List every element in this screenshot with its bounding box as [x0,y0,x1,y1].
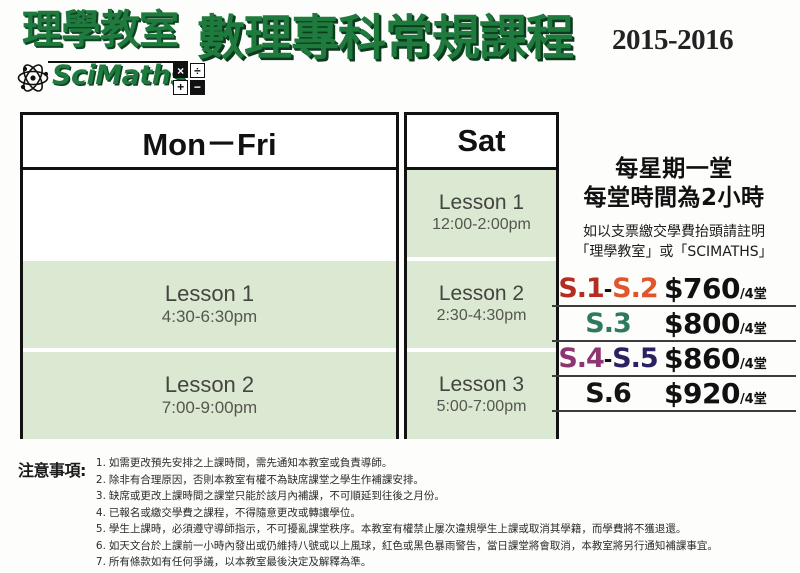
grade-label: S.5 [612,343,658,374]
price-amount: $860 [664,342,740,375]
price-amount-cell: $800/4堂 [664,306,796,341]
note-item: 4.已報名或繳交學費之課程，不得隨意更改或轉讓學位。 [96,505,718,522]
price-amount-cell: $860/4堂 [664,341,796,376]
frequency-line-1: 每星期一堂 [552,155,796,184]
price-level-cell: S.3 [552,306,664,341]
frequency-headline: 每星期一堂 每堂時間為2小時 [552,155,796,214]
slot-lesson-name: Lesson 2 [439,282,524,306]
schedule-slot[interactable]: Lesson 1 12:00-2:00pm [407,170,556,257]
cheque-note-line-1: 如以支票繳交學費抬頭請註明 [552,223,796,243]
atom-icon [16,62,50,94]
grade-range-separator: - [604,345,612,373]
price-amount-cell: $760/4堂 [664,272,796,306]
grade-label: S.6 [585,378,631,409]
price-amount: $920 [664,377,740,410]
note-item: 3.缺席或更改上課時間之課堂只能於該月內補課，不可順延到往後之月份。 [96,488,718,505]
cheque-note: 如以支票繳交學費抬頭請註明 「理學教室」或「SCIMATHS」 [552,223,796,263]
slot-lesson-time: 5:00-7:00pm [437,397,527,418]
slot-lesson-name: Lesson 1 [439,191,524,215]
note-text: 所有條款如有任何爭議，以本教室最後決定及解釋為準。 [109,556,372,568]
note-text: 學生上課時，必須遵守導師指示，不可擾亂課堂秩序。本教室有權禁止屢次違規學生上課或… [109,523,687,535]
fee-panel: 每星期一堂 每堂時間為2小時 如以支票繳交學費抬頭請註明 「理學教室」或「SCI… [552,155,796,412]
price-row[interactable]: S.1-S.2 $760/4堂 [552,272,796,306]
notes-section: 注意事項: 1.如需更改預先安排之上課時間，需先通知本教室或負責導師。 2.除非… [18,455,788,571]
frequency-line-2: 每堂時間為2小時 [552,184,796,213]
slot-lesson-name: Lesson 3 [439,373,524,397]
note-text: 缺席或更改上課時間之課堂只能於該月內補課，不可順延到往後之月份。 [109,490,445,502]
price-amount: $760 [664,272,740,305]
price-row[interactable]: S.6 $920/4堂 [552,376,796,411]
column-header-weekday: Mon－Fri [23,115,396,170]
note-text: 如需更改預先安排之上課時間，需先通知本教室或負責導師。 [109,457,393,469]
note-item: 1.如需更改預先安排之上課時間，需先通知本教室或負責導師。 [96,455,718,472]
note-text: 除非有合理原因，否則本教室有權不為缺席課堂之學生作補課安排。 [109,474,424,486]
price-row[interactable]: S.3 $800/4堂 [552,306,796,341]
column-header-saturday: Sat [407,115,556,170]
schedule-column-weekday: Mon－Fri Lesson 1 4:30-6:30pm Lesson 2 7:… [20,112,399,439]
note-text: 如天文台於上課前一小時內發出或仍維持八號或以上風球，紅色或黑色暴雨警告，當日課堂… [109,540,718,552]
slot-lesson-time: 12:00-2:00pm [432,215,531,236]
price-level-cell: S.4-S.5 [552,341,664,376]
price-table: S.1-S.2 $760/4堂 S.3 $800/4堂 S.4-S.5 [552,272,796,412]
schedule-slot[interactable] [23,170,396,257]
academic-year: 2015-2016 [612,24,733,57]
schedule-slot[interactable]: Lesson 3 5:00-7:00pm [407,352,556,439]
price-unit: /4堂 [740,287,767,302]
note-item: 5.學生上課時，必須遵守導師指示，不可擾亂課堂秩序。本教室有權禁止屢次違規學生上… [96,521,718,538]
multiply-icon: × [173,63,188,78]
price-row[interactable]: S.4-S.5 $860/4堂 [552,341,796,376]
grade-range-separator: - [604,275,612,303]
brand-logo: 理學教室 SciMaths × ÷ + − [10,8,205,98]
slot-lesson-time: 2:30-4:30pm [437,306,527,327]
price-level-cell: S.6 [552,376,664,411]
schedule-slot[interactable]: Lesson 2 2:30-4:30pm [407,261,556,348]
math-operators-icon: × ÷ + − [173,63,205,95]
minus-icon: − [190,80,205,95]
cheque-note-line-2: 「理學教室」或「SCIMATHS」 [552,243,796,263]
grade-label: S.4 [558,343,604,374]
page-title: 數理專科常規課程 [197,14,573,62]
note-text: 已報名或繳交學費之課程，不得隨意更改或轉讓學位。 [109,507,361,519]
schedule-slot[interactable]: Lesson 1 4:30-6:30pm [23,261,396,348]
price-level-cell: S.1-S.2 [552,272,664,306]
price-unit: /4堂 [740,357,767,372]
slot-lesson-name: Lesson 2 [165,372,254,397]
logo-english-name: SciMaths [52,62,186,89]
notes-list: 1.如需更改預先安排之上課時間，需先通知本教室或負責導師。 2.除非有合理原因，… [86,455,718,571]
price-unit: /4堂 [740,322,767,337]
plus-icon: + [173,80,188,95]
price-unit: /4堂 [740,392,767,407]
notes-heading: 注意事項: [18,455,86,481]
slot-lesson-name: Lesson 1 [165,281,254,306]
schedule-column-saturday: Sat Lesson 1 12:00-2:00pm Lesson 2 2:30-… [404,112,559,439]
note-item: 2.除非有合理原因，否則本教室有權不為缺席課堂之學生作補課安排。 [96,472,718,489]
slot-lesson-time: 7:00-9:00pm [162,397,257,419]
price-amount-cell: $920/4堂 [664,376,796,411]
price-amount: $800 [664,307,740,340]
slot-lesson-time: 4:30-6:30pm [162,306,257,328]
schedule-slot[interactable]: Lesson 2 7:00-9:00pm [23,352,396,439]
page-header: 理學教室 SciMaths × ÷ + − 數理專科常規課程 2015-2016 [0,0,800,105]
logo-chinese-name: 理學教室 [22,10,178,50]
note-item: 7.所有條款如有任何爭議，以本教室最後決定及解釋為準。 [96,554,718,571]
note-item: 6.如天文台於上課前一小時內發出或仍維持八號或以上風球，紅色或黑色暴雨警告，當日… [96,538,718,555]
grade-label: S.2 [612,273,658,304]
grade-label: S.3 [585,308,631,339]
grade-label: S.1 [558,273,604,304]
